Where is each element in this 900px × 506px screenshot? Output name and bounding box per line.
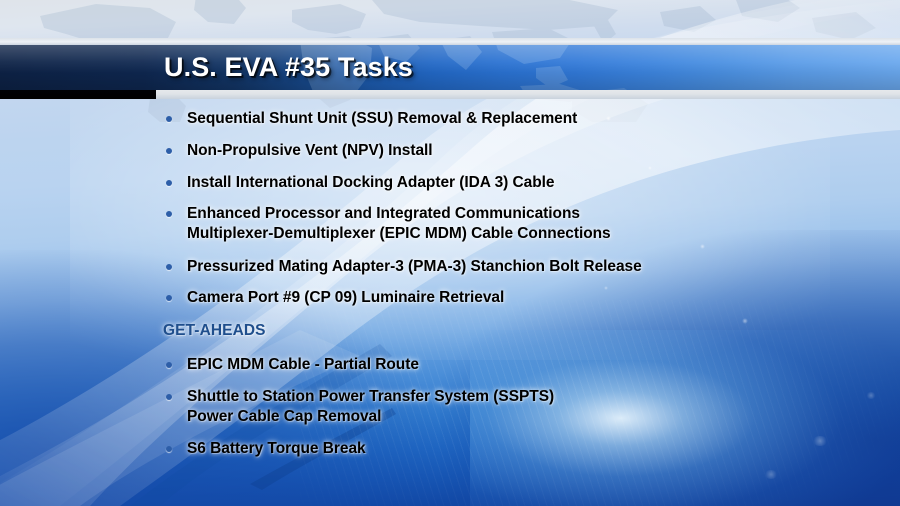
list-item: Sequential Shunt Unit (SSU) Removal & Re…: [166, 109, 577, 129]
title-bar: [0, 45, 900, 90]
bullet-dot-icon: [166, 180, 172, 186]
bullet-dot-icon: [166, 394, 172, 400]
list-item: EPIC MDM Cable - Partial Route: [166, 355, 419, 375]
bullet-dot-icon: [166, 446, 172, 452]
title-bar-top-strip: [0, 38, 900, 45]
title-bar-map-overlay: [0, 45, 900, 90]
task-list-container: Sequential Shunt Unit (SSU) Removal & Re…: [0, 99, 900, 506]
title-underbar-dark: [0, 90, 156, 99]
bullet-dot-icon: [166, 264, 172, 270]
task-label: Sequential Shunt Unit (SSU) Removal & Re…: [187, 109, 577, 129]
task-label: Enhanced Processor and Integrated Commun…: [187, 204, 611, 243]
list-item: Camera Port #9 (CP 09) Luminaire Retriev…: [166, 288, 504, 308]
bullet-dot-icon: [166, 116, 172, 122]
list-item: S6 Battery Torque Break: [166, 439, 366, 459]
section-heading-get-aheads: GET-AHEADS: [163, 322, 266, 340]
list-item: Non-Propulsive Vent (NPV) Install: [166, 141, 433, 161]
bullet-dot-icon: [166, 295, 172, 301]
task-label: Camera Port #9 (CP 09) Luminaire Retriev…: [187, 288, 504, 308]
get-ahead-label: S6 Battery Torque Break: [187, 439, 366, 459]
get-ahead-label: Shuttle to Station Power Transfer System…: [187, 387, 554, 426]
title-underbar-light: [156, 90, 900, 99]
task-label: Non-Propulsive Vent (NPV) Install: [187, 141, 433, 161]
bullet-dot-icon: [166, 211, 172, 217]
bullet-dot-icon: [166, 362, 172, 368]
list-item: Install International Docking Adapter (I…: [166, 173, 555, 193]
task-label: Pressurized Mating Adapter-3 (PMA-3) Sta…: [187, 257, 642, 277]
get-ahead-label: EPIC MDM Cable - Partial Route: [187, 355, 419, 375]
bullet-dot-icon: [166, 148, 172, 154]
task-label: Install International Docking Adapter (I…: [187, 173, 555, 193]
list-item: Shuttle to Station Power Transfer System…: [166, 387, 554, 426]
list-item: Pressurized Mating Adapter-3 (PMA-3) Sta…: [166, 257, 642, 277]
page-title: U.S. EVA #35 Tasks: [164, 45, 413, 90]
presentation-slide: U.S. EVA #35 Tasks Sequential Shunt Unit…: [0, 0, 900, 506]
list-item: Enhanced Processor and Integrated Commun…: [166, 204, 611, 243]
